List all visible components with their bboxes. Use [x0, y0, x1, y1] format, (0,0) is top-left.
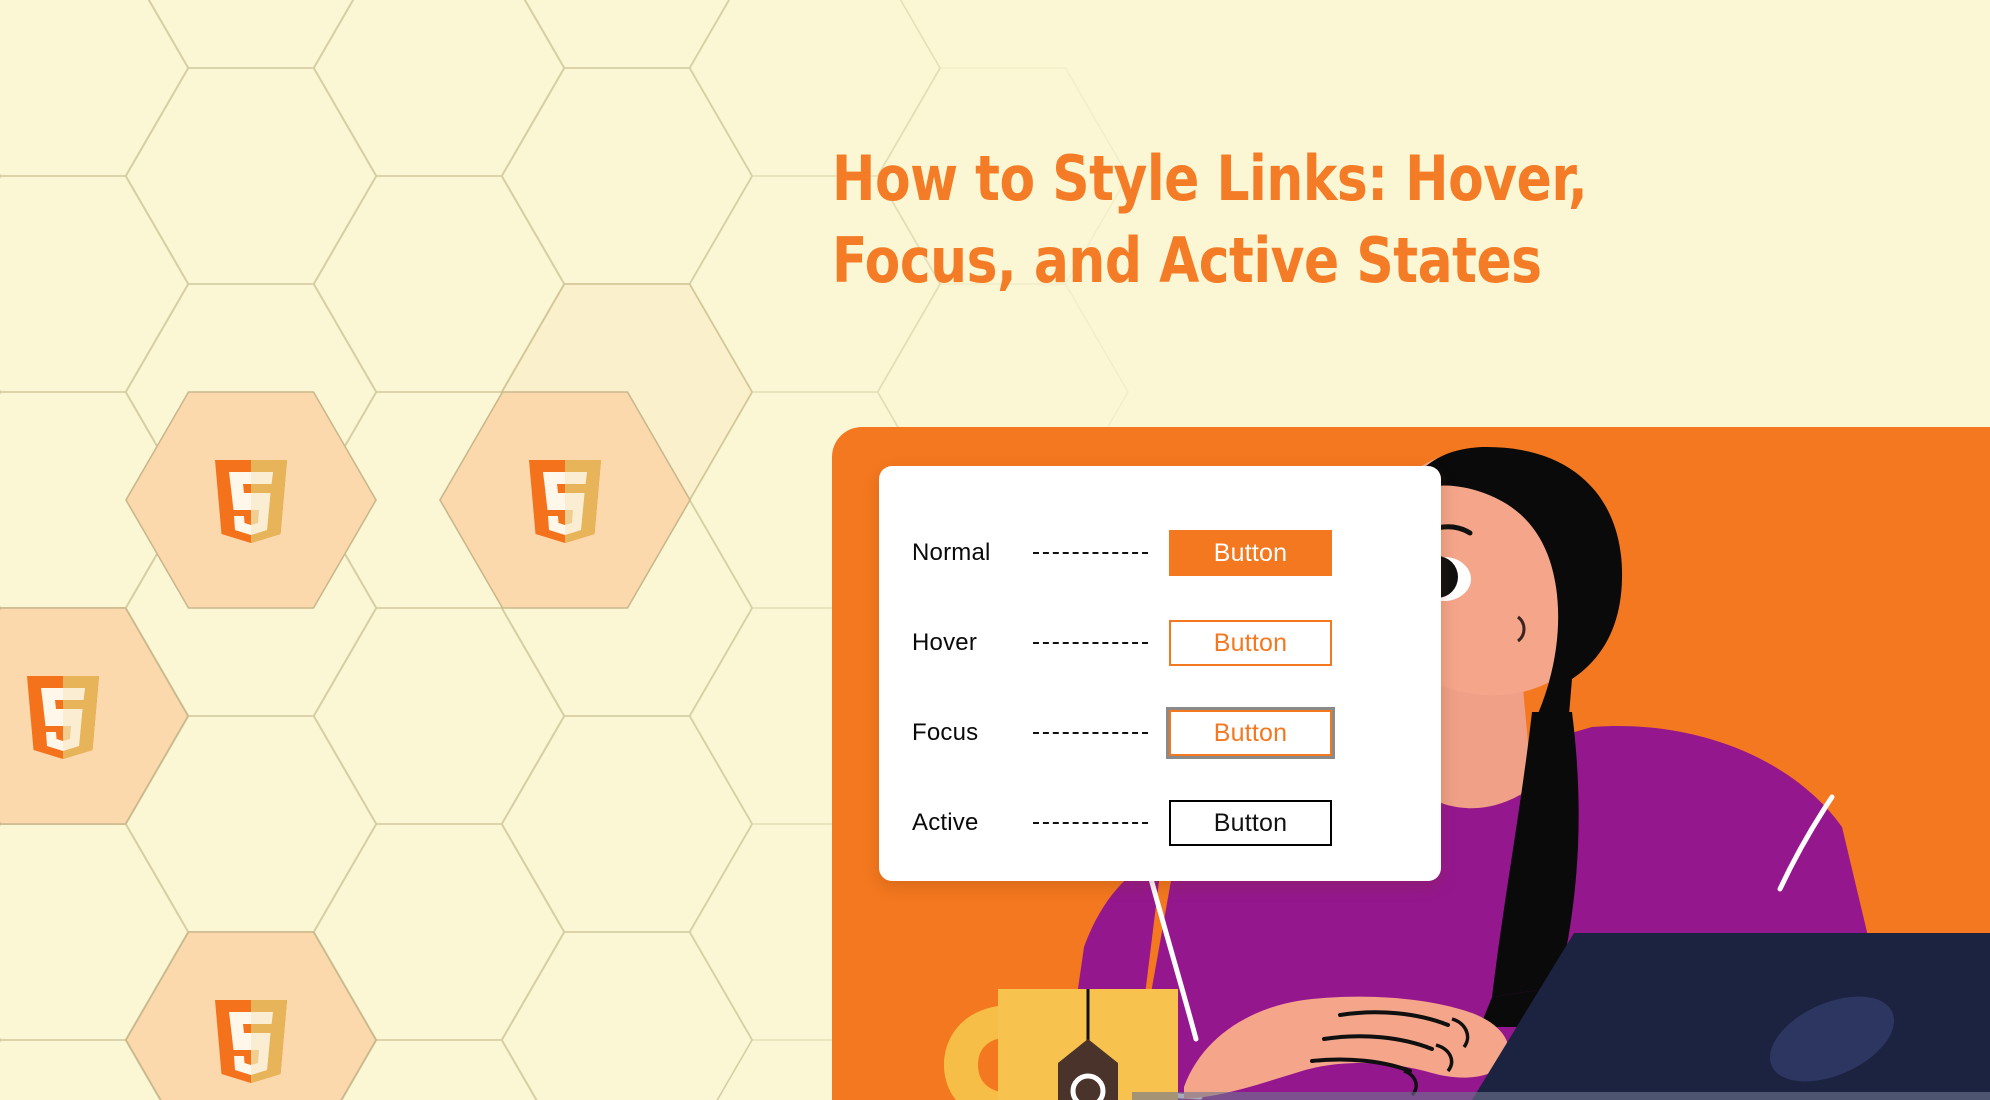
dotted-connector: [1033, 822, 1148, 824]
state-row-normal: Normal Button: [879, 508, 1441, 598]
focus-state-button[interactable]: Button: [1169, 710, 1332, 756]
hover-state-button[interactable]: Button: [1169, 620, 1332, 666]
dotted-connector: [1033, 552, 1148, 554]
dotted-connector: [1033, 732, 1148, 734]
coffee-mug: [944, 989, 1178, 1100]
link-states-card: Normal Button Hover Button Focus Button …: [879, 466, 1441, 881]
page-title: How to Style Links: Hover, Focus, and Ac…: [832, 138, 1669, 302]
state-label: Normal: [912, 539, 991, 567]
desk-edge: [1132, 1092, 1990, 1100]
state-row-hover: Hover Button: [879, 598, 1441, 688]
state-row-focus: Focus Button: [879, 688, 1441, 778]
active-state-button[interactable]: Button: [1169, 800, 1332, 846]
normal-state-button[interactable]: Button: [1169, 530, 1332, 576]
state-label: Focus: [912, 719, 978, 747]
state-label: Active: [912, 809, 979, 837]
state-row-active: Active Button: [879, 778, 1441, 868]
state-label: Hover: [912, 629, 977, 657]
dotted-connector: [1033, 642, 1148, 644]
